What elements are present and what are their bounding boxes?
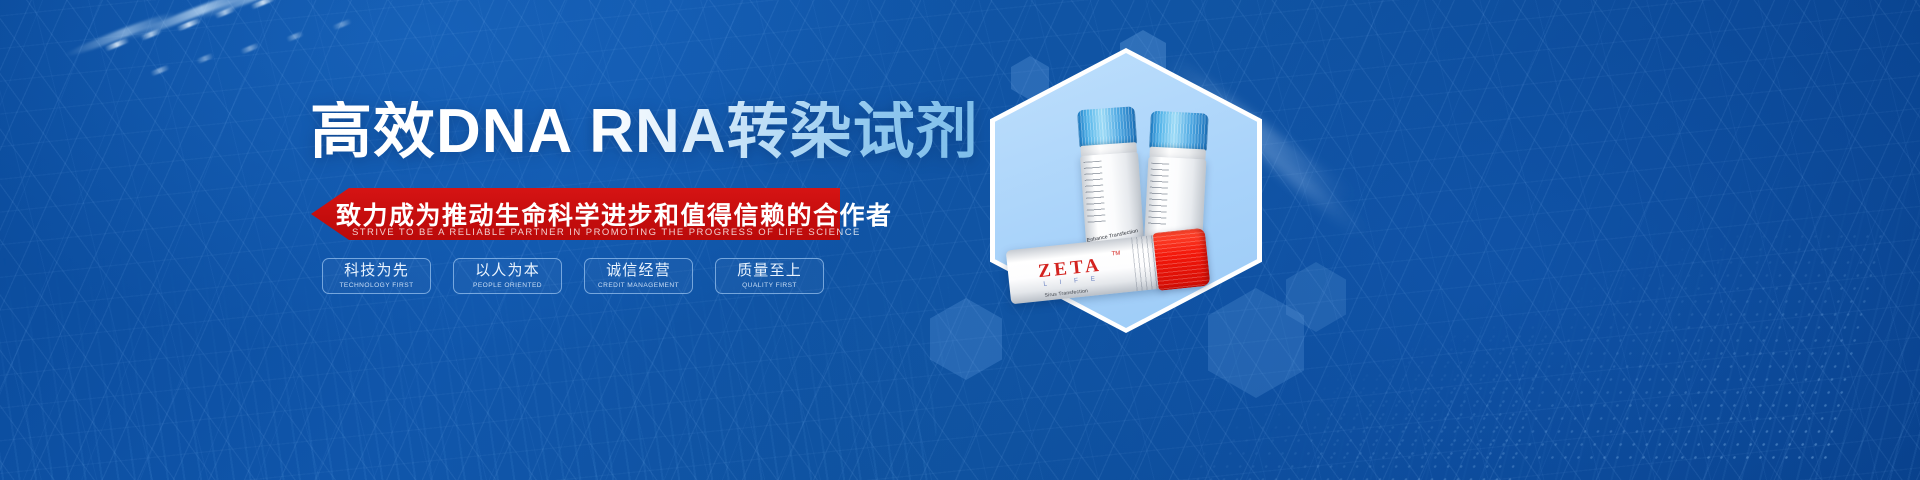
- pill-quality-first[interactable]: 质量至上 QUALITY FIRST: [715, 258, 824, 294]
- vial-cap-red: [1153, 228, 1211, 291]
- promo-banner: 高效DNA RNA转染试剂 致力成为推动生命科学进步和值得信赖的合作者 STRI…: [0, 0, 1920, 480]
- pill-label-cn: 诚信经营: [606, 263, 671, 279]
- pill-people-oriented[interactable]: 以人为本 PEOPLE ORIENTED: [453, 258, 562, 294]
- banner-copy: 高效DNA RNA转染试剂 致力成为推动生命科学进步和值得信赖的合作者 STRI…: [0, 0, 960, 480]
- feature-pill-row: 科技为先 TECHNOLOGY FIRST 以人为本 PEOPLE ORIENT…: [322, 258, 824, 294]
- pill-label-en: QUALITY FIRST: [742, 282, 797, 289]
- product-showcase: Enhance Transfection Cat.No. ADS0018 Siz…: [980, 0, 1920, 480]
- headline: 高效DNA RNA转染试剂: [310, 101, 979, 163]
- vial-cap-blue: [1149, 111, 1209, 152]
- pill-label-en: TECHNOLOGY FIRST: [339, 282, 413, 289]
- pill-label-cn: 科技为先: [344, 263, 409, 279]
- pill-technology-first[interactable]: 科技为先 TECHNOLOGY FIRST: [322, 258, 431, 294]
- pill-credit-management[interactable]: 诚信经营 CREDIT MANAGEMENT: [584, 258, 693, 294]
- ribbon-slogan-en: STRIVE TO BE A RELIABLE PARTNER IN PROMO…: [352, 227, 822, 238]
- graduation-marks: [1148, 163, 1169, 228]
- pill-label-cn: 质量至上: [737, 263, 802, 279]
- pill-label-en: CREDIT MANAGEMENT: [598, 282, 679, 289]
- trademark-symbol: TM: [1111, 251, 1120, 258]
- graduation-marks: [1084, 161, 1106, 226]
- pill-label-cn: 以人为本: [475, 263, 540, 279]
- pill-label-en: PEOPLE ORIENTED: [473, 282, 542, 289]
